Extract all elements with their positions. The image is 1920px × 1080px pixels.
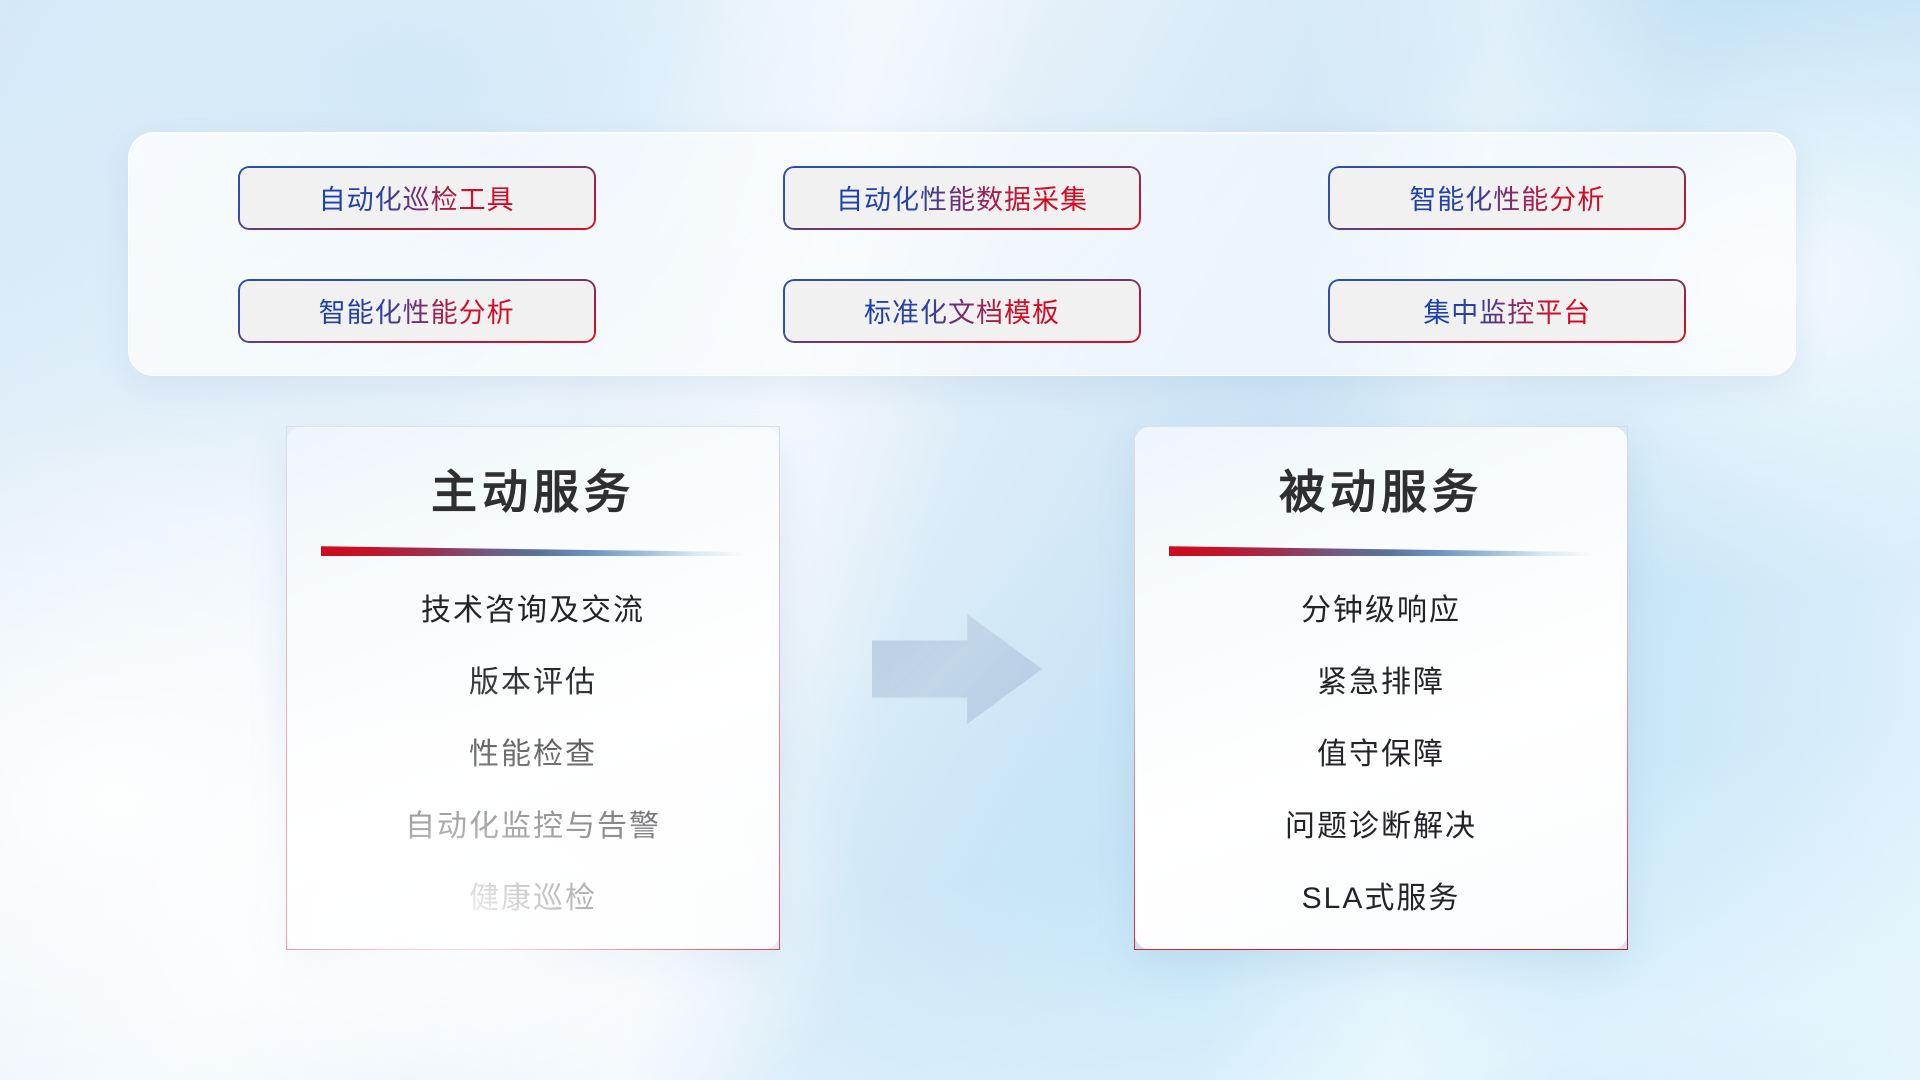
service-list-item: 值守保障 xyxy=(1317,719,1445,791)
service-card-title: 被动服务 xyxy=(1279,465,1483,519)
capability-tag[interactable]: 智能化性能分析 xyxy=(1328,166,1686,230)
service-list-item: 紧急排障 xyxy=(1317,647,1445,719)
capability-tag-label: 自动化性能数据采集 xyxy=(836,178,1088,217)
service-item-list: 技术咨询及交流 版本评估 性能检查 自动化监控与告警 健康巡检 xyxy=(321,575,745,935)
service-list-item: 问题诊断解决 xyxy=(1285,791,1477,863)
capability-tag[interactable]: 智能化性能分析 xyxy=(238,279,596,343)
capability-tag-label: 智能化性能分析 xyxy=(1409,178,1605,217)
capability-tag-label: 集中监控平台 xyxy=(1423,291,1591,330)
capability-tag-label: 自动化巡检工具 xyxy=(319,178,515,217)
arrow-right-icon xyxy=(872,614,1042,724)
service-item-list: 分钟级响应 紧急排障 值守保障 问题诊断解决 SLA式服务 xyxy=(1169,575,1593,935)
infographic-canvas: 自动化巡检工具 自动化性能数据采集 智能化性能分析 智能化性能分析 标准化文档模… xyxy=(0,0,1920,1080)
capability-tag[interactable]: 自动化巡检工具 xyxy=(238,166,596,230)
service-list-item: 版本评估 xyxy=(469,647,597,719)
capability-tag[interactable]: 自动化性能数据采集 xyxy=(783,166,1141,230)
service-list-item: 分钟级响应 xyxy=(1301,575,1461,647)
service-card-body: 主动服务 技术咨询及交流 版本评估 性能检查 自动化监控与告警 健康巡检 xyxy=(287,427,779,949)
service-list-item: 自动化监控与告警 xyxy=(405,791,661,863)
capability-tag-label: 智能化性能分析 xyxy=(319,291,515,330)
service-card-reactive: 被动服务 分钟级响应 紧急排障 值守保障 问题诊断解决 SLA式服务 xyxy=(1134,426,1628,950)
divider-bar xyxy=(1169,546,1593,556)
service-list-item: 性能检查 xyxy=(469,719,597,791)
capability-tag[interactable]: 标准化文档模板 xyxy=(783,279,1141,343)
divider-bar xyxy=(321,546,745,556)
service-list-item: SLA式服务 xyxy=(1302,863,1461,935)
service-card-body: 被动服务 分钟级响应 紧急排障 值守保障 问题诊断解决 SLA式服务 xyxy=(1135,427,1627,949)
capability-tag[interactable]: 集中监控平台 xyxy=(1328,279,1686,343)
capability-tags-panel: 自动化巡检工具 自动化性能数据采集 智能化性能分析 智能化性能分析 标准化文档模… xyxy=(128,132,1796,376)
service-list-item: 健康巡检 xyxy=(469,863,597,935)
service-list-item: 技术咨询及交流 xyxy=(421,575,645,647)
service-card-title: 主动服务 xyxy=(431,465,635,519)
service-card-proactive: 主动服务 技术咨询及交流 版本评估 性能检查 自动化监控与告警 健康巡检 xyxy=(286,426,780,950)
capability-tag-label: 标准化文档模板 xyxy=(864,291,1060,330)
